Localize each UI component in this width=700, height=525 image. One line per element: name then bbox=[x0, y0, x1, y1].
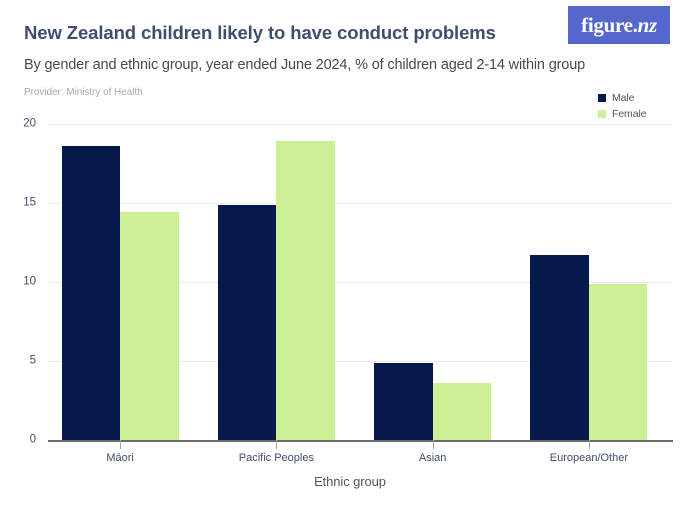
chart-legend: MaleFemale bbox=[598, 91, 690, 123]
legend-item-label: Female bbox=[612, 108, 646, 120]
figure-nz-logo[interactable]: figure.nz bbox=[568, 6, 670, 44]
x-tick-label: Asian bbox=[419, 452, 447, 464]
y-tick-label: 0 bbox=[30, 434, 36, 446]
x-tick bbox=[276, 440, 277, 449]
plot-area bbox=[48, 124, 673, 440]
bar-asian-male[interactable] bbox=[374, 363, 433, 440]
legend-item-male[interactable]: Male bbox=[598, 91, 690, 105]
x-tick-label: Pacific Peoples bbox=[239, 452, 314, 464]
y-tick-label: 20 bbox=[23, 118, 36, 130]
x-tick-label: European/Other bbox=[550, 452, 628, 464]
x-tick bbox=[120, 440, 121, 449]
brand-logo-text: figure.nz bbox=[581, 15, 657, 36]
bar-european-other-female[interactable] bbox=[589, 284, 648, 440]
chart-page: New Zealand children likely to have cond… bbox=[0, 0, 700, 525]
bar-pacific-peoples-male[interactable] bbox=[218, 205, 277, 440]
page-title: New Zealand children likely to have cond… bbox=[24, 22, 496, 44]
bar-asian-female[interactable] bbox=[433, 383, 492, 440]
legend-item-label: Male bbox=[612, 92, 634, 104]
legend-item-female[interactable]: Female bbox=[598, 107, 690, 121]
y-axis: 05101520 bbox=[0, 0, 48, 525]
square-swatch-icon bbox=[598, 94, 606, 102]
brand-name-main: figure. bbox=[581, 13, 637, 37]
x-axis-title: Ethnic group bbox=[0, 474, 700, 489]
bar-pacific-peoples-female[interactable] bbox=[276, 141, 335, 440]
x-tick bbox=[589, 440, 590, 449]
gridline bbox=[48, 203, 673, 204]
chart-subtitle: By gender and ethnic group, year ended J… bbox=[24, 57, 585, 73]
y-tick-label: 15 bbox=[23, 197, 36, 209]
y-tick-label: 10 bbox=[23, 276, 36, 288]
gridline bbox=[48, 124, 673, 125]
bar-m-ori-female[interactable] bbox=[120, 212, 179, 440]
x-tick bbox=[433, 440, 434, 449]
square-swatch-icon bbox=[598, 110, 606, 118]
brand-name-suffix: nz bbox=[638, 13, 657, 37]
y-tick-label: 5 bbox=[30, 355, 36, 367]
bar-m-ori-male[interactable] bbox=[62, 146, 121, 440]
x-axis-line bbox=[48, 440, 673, 442]
x-tick-label: Māori bbox=[106, 452, 134, 464]
bar-european-other-male[interactable] bbox=[530, 255, 589, 440]
